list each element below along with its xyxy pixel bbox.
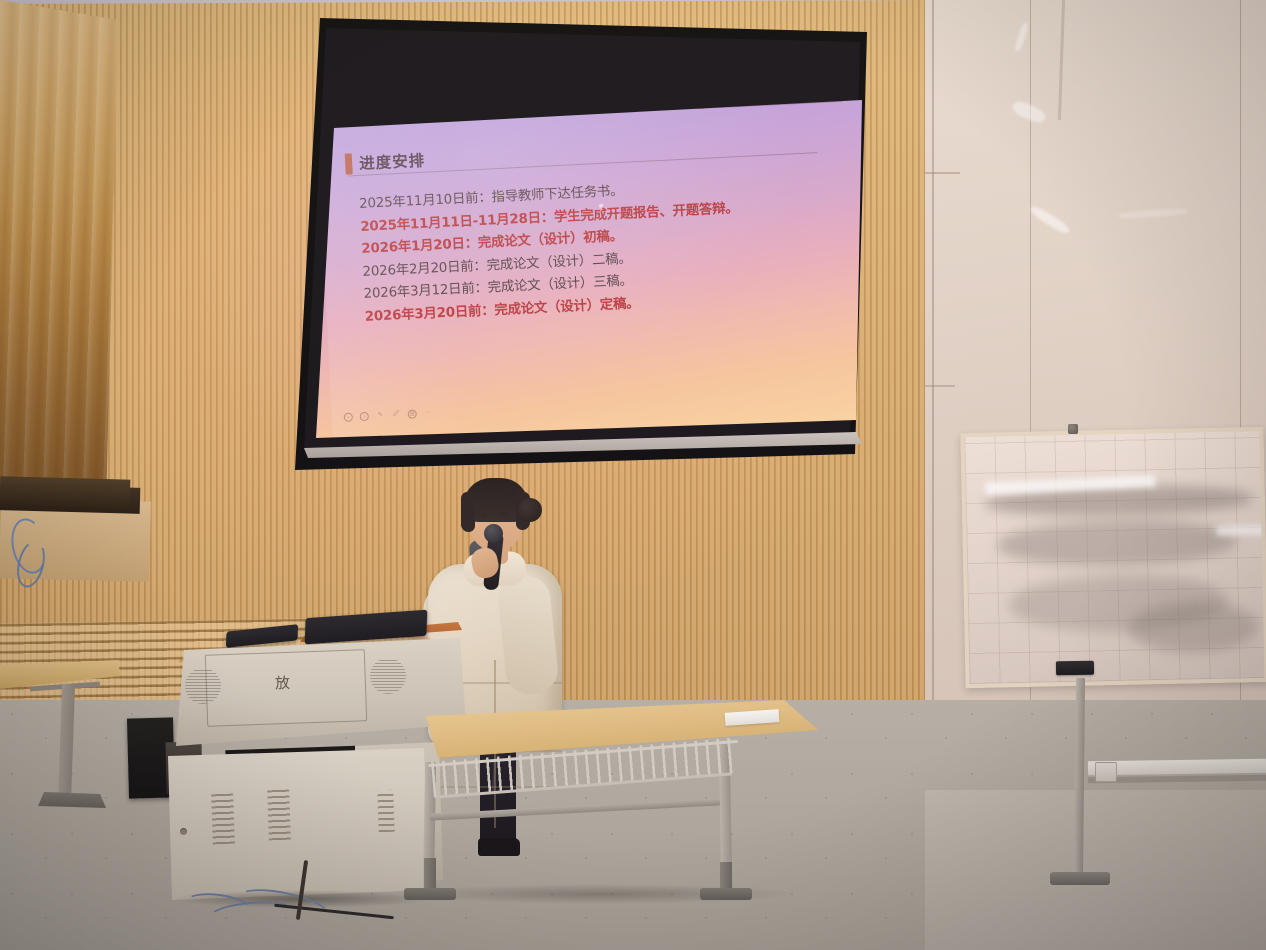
- presenter-eye: [478, 514, 486, 517]
- presenter-hair-side: [461, 492, 475, 532]
- curtain-hem: [0, 476, 130, 507]
- whiteboard-mount-bolt: [1068, 424, 1078, 434]
- whiteboard-eraser[interactable]: [1056, 661, 1094, 676]
- curtain-shading: [0, 0, 118, 510]
- wall-seam: [925, 172, 960, 174]
- wall-outlet[interactable]: [1095, 762, 1117, 782]
- lectern-vent-slots: [377, 790, 394, 833]
- whiteboard[interactable]: [960, 427, 1266, 688]
- presenter-eye: [500, 512, 508, 515]
- whiteboard-stand-foot: [1050, 872, 1110, 885]
- lectern-lock[interactable]: [180, 828, 187, 835]
- front-table-foot: [404, 888, 456, 900]
- lectern-stencil-label: 放: [275, 672, 300, 697]
- presenter-shoe: [478, 838, 520, 856]
- projected-slide[interactable]: 西安培华学院 XI'AN PEIHUA UNIVERSITY 进度安排 2025…: [316, 100, 862, 438]
- lectern-vent-slots: [267, 788, 291, 841]
- front-table-foot: [700, 888, 752, 900]
- left-side-table-foot: [38, 792, 106, 808]
- screen-sheen: [316, 100, 862, 438]
- lectern-speaker-grille: [185, 668, 221, 704]
- wall-seam: [925, 385, 955, 387]
- hair-bun: [518, 498, 542, 522]
- classroom-floor-right: [925, 790, 1266, 950]
- lectern-vent-slots: [211, 792, 235, 845]
- whiteboard-highlight: [1216, 525, 1266, 536]
- floor-cable-bundle: [178, 888, 368, 940]
- wall-seam: [932, 0, 934, 800]
- lectern-speaker-grille: [370, 658, 406, 694]
- classroom-photo-scene: 西安培华学院 XI'AN PEIHUA UNIVERSITY 进度安排 2025…: [0, 0, 1266, 950]
